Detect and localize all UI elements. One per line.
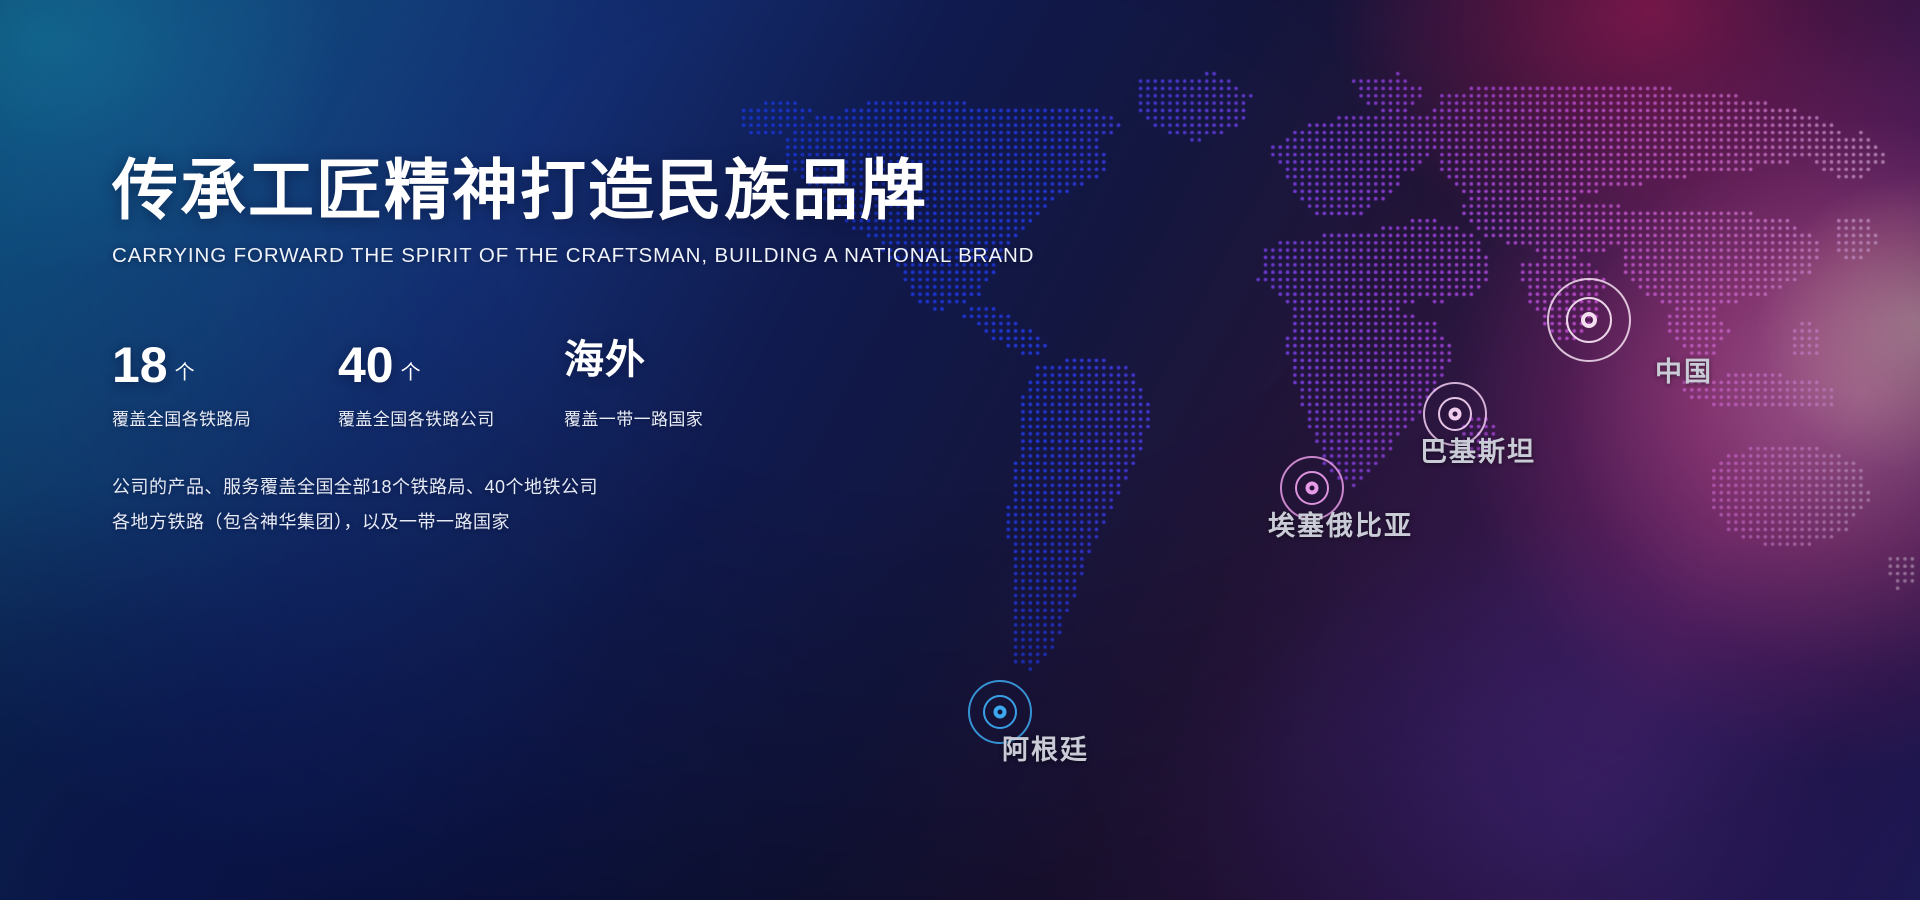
marker-ring [1306, 482, 1319, 495]
body-description: 公司的产品、服务覆盖全国全部18个铁路局、40个地铁公司 各地方铁路（包含神华集… [112, 470, 598, 540]
stat-description: 覆盖一带一路国家 [564, 405, 790, 430]
stat-description: 覆盖全国各铁路局 [112, 405, 338, 430]
marker-ring [1449, 408, 1462, 421]
banner-stage: 中国巴基斯坦埃塞俄比亚阿根廷 传承工匠精神打造民族品牌 CARRYING FOR… [0, 0, 1920, 900]
text-content-block: 传承工匠精神打造民族品牌 CARRYING FORWARD THE SPIRIT… [112, 155, 942, 268]
stat-number: 海外 [564, 340, 646, 380]
marker-ring [1581, 312, 1597, 328]
statistics-row: 18个覆盖全国各铁路局40个覆盖全国各铁路公司海外覆盖一带一路国家 [112, 340, 790, 430]
map-marker-label-argentina: 阿根廷 [1002, 728, 1089, 767]
vignette-overlay [0, 0, 1920, 900]
map-marker-label-ethiopia: 埃塞俄比亚 [1268, 504, 1413, 543]
stat-item: 海外覆盖一带一路国家 [564, 340, 790, 430]
stat-item: 40个覆盖全国各铁路公司 [338, 340, 564, 430]
stat-number: 40 [338, 340, 394, 390]
marker-ring [994, 706, 1007, 719]
stat-unit: 个 [175, 356, 195, 385]
map-marker-label-china: 中国 [1655, 350, 1713, 389]
body-line-2: 各地方铁路（包含神华集团），以及一带一路国家 [112, 505, 598, 540]
map-marker-label-pakistan: 巴基斯坦 [1420, 430, 1536, 469]
stat-description: 覆盖全国各铁路公司 [338, 405, 564, 430]
page-title: 传承工匠精神打造民族品牌 [112, 155, 942, 226]
stat-unit: 个 [401, 356, 421, 385]
body-line-1: 公司的产品、服务覆盖全国全部18个铁路局、40个地铁公司 [112, 470, 598, 505]
page-subtitle: CARRYING FORWARD THE SPIRIT OF THE CRAFT… [112, 244, 942, 268]
stat-number: 18 [112, 340, 168, 390]
stat-item: 18个覆盖全国各铁路局 [112, 340, 338, 430]
